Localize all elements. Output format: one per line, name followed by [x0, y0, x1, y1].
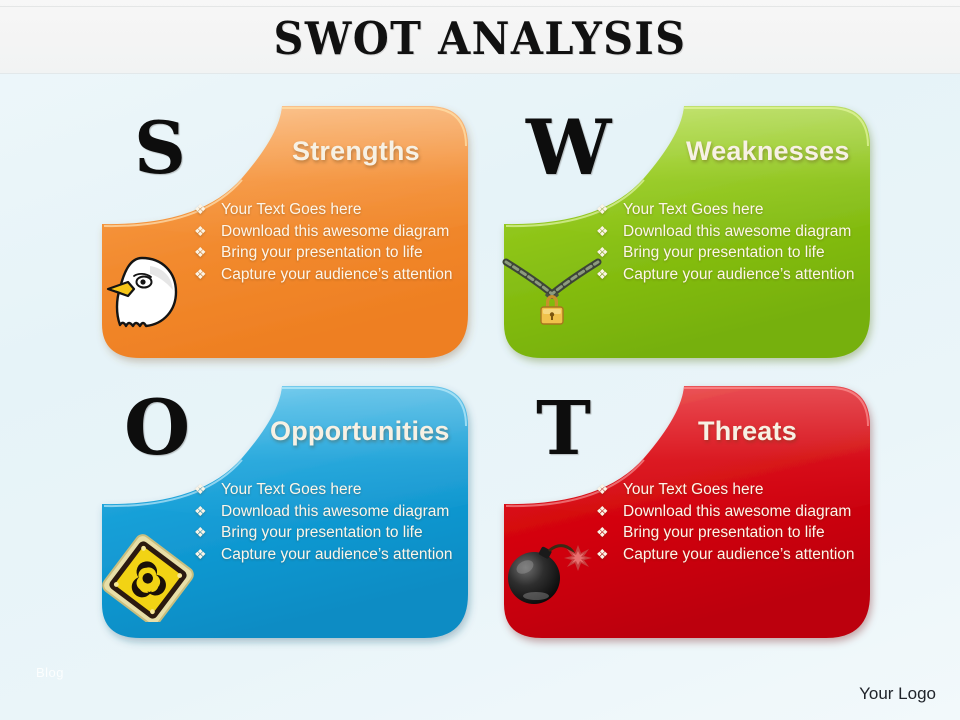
diamond-bullet-icon: ❖ [596, 479, 609, 500]
list-item: ❖ Bring your presentation to life [596, 523, 858, 544]
list-item-label: Capture your audience’s attention [221, 266, 453, 283]
diamond-bullet-icon: ❖ [194, 199, 207, 220]
quadrant-letter-t: T [536, 392, 591, 466]
list-item: ❖ Bring your presentation to life [596, 243, 858, 264]
strengths-bullet-list: ❖ Your Text Goes here ❖ Download this aw… [194, 200, 456, 286]
diamond-bullet-icon: ❖ [194, 264, 207, 285]
quadrant-heading-opportunities: Opportunities [270, 416, 450, 447]
list-item: ❖ Your Text Goes here [596, 480, 858, 501]
list-item: ❖ Your Text Goes here [194, 480, 456, 501]
quadrant-weaknesses[interactable]: W Weaknesses ❖ Your Text Goes here ❖ Dow… [498, 104, 872, 366]
biohazard-sign-icon [102, 534, 194, 622]
threats-bullet-list: ❖ Your Text Goes here ❖ Download this aw… [596, 480, 858, 566]
list-item: ❖ Download this awesome diagram [194, 502, 456, 523]
list-item-label: Your Text Goes here [221, 481, 361, 498]
list-item: ❖ Capture your audience’s attention [596, 545, 858, 566]
quadrant-letter-w: W [526, 110, 611, 186]
watermark: Blog [36, 665, 64, 680]
list-item: ❖ Download this awesome diagram [596, 502, 858, 523]
list-item: ❖ Capture your audience’s attention [194, 265, 456, 286]
list-item: ❖ Your Text Goes here [194, 200, 456, 221]
quadrant-threats[interactable]: T Threats ❖ Your Text Goes here ❖ Downlo… [498, 384, 872, 646]
list-item-label: Bring your presentation to life [221, 524, 423, 541]
list-item-label: Your Text Goes here [221, 201, 361, 218]
list-item-label: Capture your audience’s attention [623, 266, 855, 283]
list-item-label: Bring your presentation to life [623, 244, 825, 261]
list-item-label: Download this awesome diagram [221, 223, 449, 240]
diamond-bullet-icon: ❖ [596, 199, 609, 220]
list-item: ❖ Bring your presentation to life [194, 523, 456, 544]
weaknesses-bullet-list: ❖ Your Text Goes here ❖ Download this aw… [596, 200, 858, 286]
list-item-label: Capture your audience’s attention [221, 546, 453, 563]
list-item: ❖ Capture your audience’s attention [596, 265, 858, 286]
diamond-bullet-icon: ❖ [194, 501, 207, 522]
opportunities-bullet-list: ❖ Your Text Goes here ❖ Download this aw… [194, 480, 456, 566]
list-item-label: Download this awesome diagram [221, 503, 449, 520]
list-item: ❖ Download this awesome diagram [596, 222, 858, 243]
page-title: SWOT ANALYSIS [38, 12, 921, 65]
quadrant-opportunities[interactable]: O Opportunities ❖ Your Text Goes here ❖ … [96, 384, 470, 646]
chain-padlock-icon [502, 256, 602, 332]
list-item-label: Bring your presentation to life [623, 524, 825, 541]
logo-placeholder: Your Logo [859, 684, 936, 704]
list-item-label: Capture your audience’s attention [623, 546, 855, 563]
list-item-label: Your Text Goes here [623, 481, 763, 498]
list-item-label: Download this awesome diagram [623, 503, 851, 520]
diamond-bullet-icon: ❖ [596, 501, 609, 522]
quadrant-heading-weaknesses: Weaknesses [686, 136, 850, 167]
header-rule [0, 6, 960, 7]
quadrant-heading-threats: Threats [698, 416, 797, 447]
eagle-head-icon [104, 252, 190, 330]
quadrant-letter-s: S [134, 112, 186, 184]
quadrant-heading-strengths: Strengths [292, 136, 420, 167]
list-item: ❖ Bring your presentation to life [194, 243, 456, 264]
quadrant-strengths[interactable]: S Strengths ❖ Your Text Goes here ❖ Down… [96, 104, 470, 366]
diamond-bullet-icon: ❖ [194, 522, 207, 543]
list-item: ❖ Capture your audience’s attention [194, 545, 456, 566]
diamond-bullet-icon: ❖ [596, 221, 609, 242]
quadrant-letter-o: O [124, 390, 190, 466]
diamond-bullet-icon: ❖ [194, 544, 207, 565]
list-item-label: Download this awesome diagram [623, 223, 851, 240]
diamond-bullet-icon: ❖ [194, 479, 207, 500]
list-item: ❖ Your Text Goes here [596, 200, 858, 221]
list-item: ❖ Download this awesome diagram [194, 222, 456, 243]
diamond-bullet-icon: ❖ [194, 242, 207, 263]
swot-slide: SWOT ANALYSIS [0, 0, 960, 720]
bomb-icon [498, 534, 598, 606]
diamond-bullet-icon: ❖ [194, 221, 207, 242]
list-item-label: Bring your presentation to life [221, 244, 423, 261]
list-item-label: Your Text Goes here [623, 201, 763, 218]
